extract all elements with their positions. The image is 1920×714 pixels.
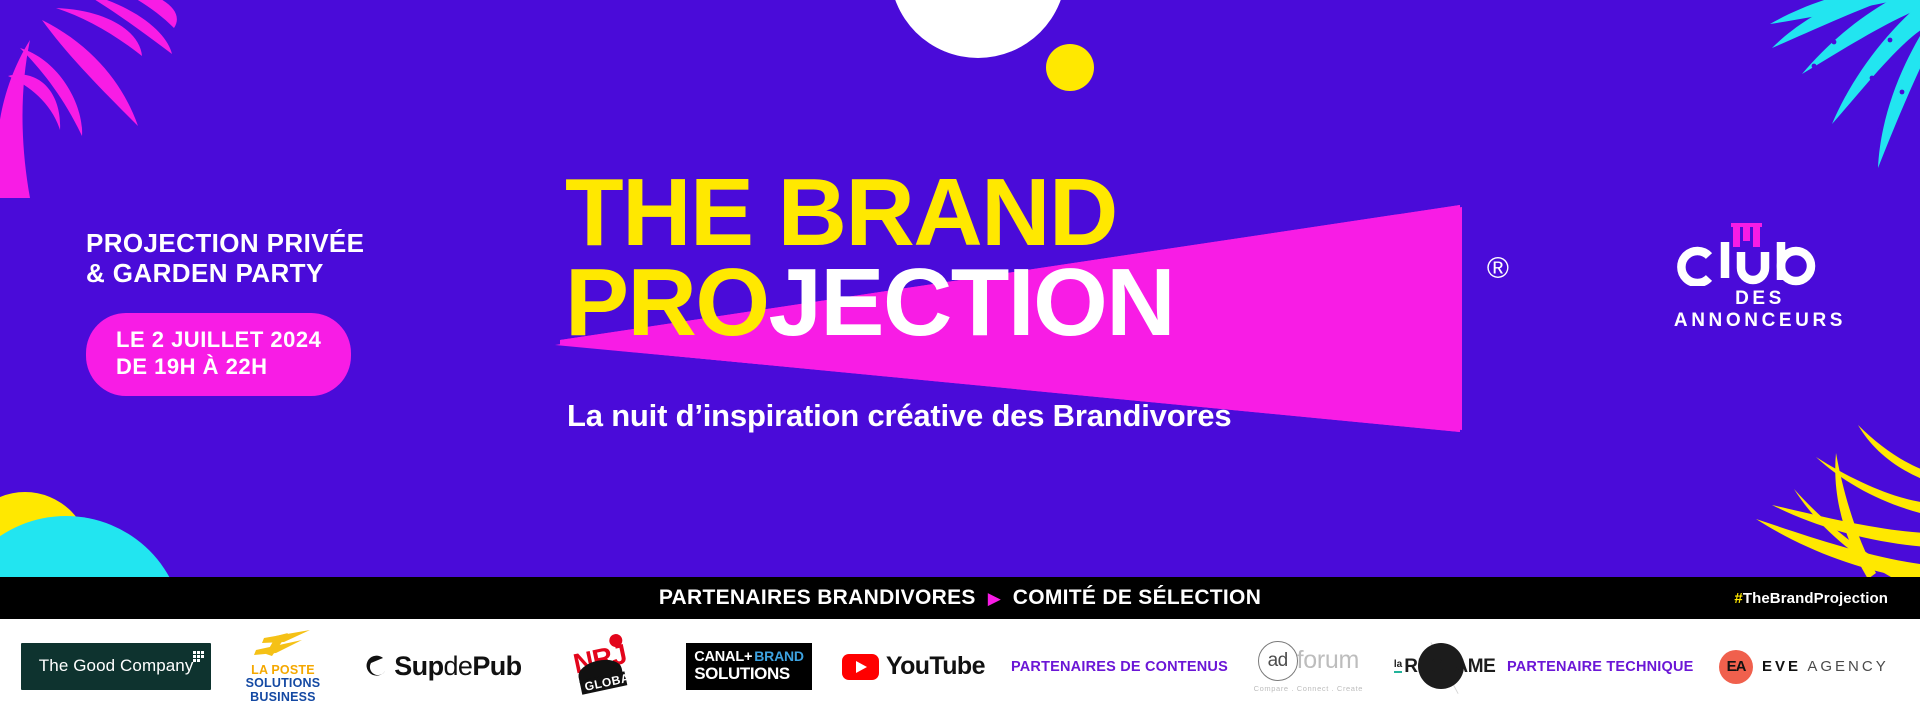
comite-selection-label: COMITÉ DE SÉLECTION	[1013, 586, 1261, 610]
label-partenaire-technique: PARTENAIRE TECHNIQUE	[1495, 659, 1706, 675]
eve-agency-lockup: EA EVE AGENCY	[1719, 650, 1889, 684]
title-jection: JECTION	[769, 249, 1175, 356]
adforum-lockup: ad forum Compare . Connect . Create	[1254, 641, 1363, 693]
leaf-decoration-magenta	[0, 0, 240, 199]
partner-logo-la-reclame[interactable]: la RÉCLAME	[1377, 645, 1495, 689]
the-good-company-badge: The Good Company	[21, 643, 212, 690]
partner-logo-canal-brand-solutions[interactable]: CANAL+BRAND SOLUTIONS	[671, 643, 828, 691]
circle-decoration-white	[890, 0, 1066, 58]
partners-brandivores-label: PARTENAIRES BRANDIVORES	[659, 586, 976, 610]
la-poste-bird-icon	[254, 630, 312, 660]
arrow-right-icon: ▶	[988, 590, 1001, 607]
title-line-2: PROJECTION	[565, 258, 1475, 348]
leaf-decoration-yellow	[1660, 383, 1920, 577]
circle-decoration-cyan	[0, 516, 184, 577]
la-poste-line-1: LA POSTE	[251, 664, 315, 677]
club-wordmark	[1655, 222, 1865, 286]
youtube-lockup: YouTube	[842, 652, 985, 681]
partner-logo-nrj-global[interactable]: NRJ GLOBAL	[533, 632, 670, 702]
la-poste-line-3: BUSINESS	[250, 691, 316, 704]
tagline: La nuit d’inspiration créative des Brand…	[567, 398, 1231, 434]
supdepub-swirl-icon	[363, 654, 389, 680]
partner-logos-strip: The Good Company LA PO	[0, 619, 1920, 714]
la-reclame-lockup: la RÉCLAME	[1394, 645, 1478, 689]
supdepub-lockup: SupdePub	[363, 651, 521, 682]
dot-decoration-yellow	[1046, 44, 1094, 91]
hashtag-text: TheBrandProjection	[1743, 590, 1888, 607]
la-reclame-la: la	[1394, 660, 1402, 673]
circle-decoration-yellow	[0, 492, 90, 577]
partner-logos-row: The Good Company LA PO	[0, 630, 1920, 704]
partner-logo-eve-agency[interactable]: EA EVE AGENCY	[1706, 650, 1902, 684]
club-des-annonceurs-logo: DES ANNONCEURS	[1655, 222, 1865, 332]
partner-logo-the-good-company[interactable]: The Good Company	[18, 643, 214, 690]
la-poste-lockup: LA POSTE SOLUTIONS BUSINESS	[246, 630, 321, 704]
event-info-block: PROJECTION PRIVÉE & GARDEN PARTY LE 2 JU…	[86, 228, 506, 396]
leaf-decoration-cyan	[1666, 0, 1920, 192]
event-kicker-line-1: PROJECTION PRIVÉE	[86, 228, 506, 258]
partner-logo-adforum[interactable]: ad forum Compare . Connect . Create	[1240, 641, 1377, 693]
adforum-tagline: Compare . Connect . Create	[1254, 684, 1363, 693]
event-time: DE 19H À 22H	[116, 354, 321, 381]
solutions-label: SOLUTIONS	[694, 665, 804, 683]
grid-mark-icon	[193, 651, 204, 663]
partenaires-contenus-text: PARTENAIRES DE CONTENUS	[1011, 659, 1228, 675]
promo-banner: PROJECTION PRIVÉE & GARDEN PARTY LE 2 JU…	[0, 0, 1920, 714]
supdepub-label: SupdePub	[394, 651, 521, 682]
partner-logo-youtube[interactable]: YouTube	[828, 652, 1000, 681]
partner-logo-supdepub[interactable]: SupdePub	[352, 651, 534, 682]
la-poste-line-2: SOLUTIONS	[246, 677, 321, 690]
label-partenaires-de-contenus: PARTENAIRES DE CONTENUS	[999, 659, 1239, 675]
partner-logo-la-poste[interactable]: LA POSTE SOLUTIONS BUSINESS	[214, 630, 351, 704]
eve-agency-badge-icon: EA	[1719, 650, 1753, 684]
canal-label: CANAL+	[694, 649, 752, 665]
partners-header-center: PARTENAIRES BRANDIVORES ▶ COMITÉ DE SÉLE…	[0, 577, 1920, 619]
partners-header-bar: PARTENAIRES BRANDIVORES ▶ COMITÉ DE SÉLE…	[0, 577, 1920, 619]
event-kicker-line-2: & GARDEN PARTY	[86, 258, 506, 288]
hero-section: PROJECTION PRIVÉE & GARDEN PARTY LE 2 JU…	[0, 0, 1920, 577]
canal-brand-solutions-badge: CANAL+BRAND SOLUTIONS	[686, 643, 812, 691]
club-subtitle: DES ANNONCEURS	[1655, 288, 1865, 332]
eve-agency-label: EVE AGENCY	[1762, 658, 1889, 675]
adforum-forum-text: forum	[1297, 646, 1359, 675]
registered-trademark-icon: ®	[1487, 252, 1509, 286]
nrj-global-icon: NRJ GLOBAL	[567, 632, 637, 702]
event-date-pill: LE 2 JUILLET 2024 DE 19H À 22H	[86, 313, 351, 397]
canal-row-1: CANAL+BRAND	[694, 649, 804, 666]
main-title: THE BRAND PROJECTION ®	[565, 168, 1475, 348]
event-hashtag: #TheBrandProjection	[1734, 577, 1888, 619]
event-date: LE 2 JUILLET 2024	[116, 327, 321, 354]
la-reclame-main: RÉCLAME	[1404, 656, 1495, 678]
partenaire-technique-text: PARTENAIRE TECHNIQUE	[1507, 659, 1694, 675]
hash-icon: #	[1734, 590, 1742, 607]
club-logo-icon	[1655, 222, 1865, 286]
youtube-label: YouTube	[886, 652, 985, 681]
title-o: O	[695, 249, 768, 356]
youtube-play-icon	[842, 654, 879, 680]
title-line-1: THE BRAND	[565, 168, 1475, 258]
adforum-wordmark: ad forum	[1258, 641, 1359, 681]
the-good-company-label: The Good Company	[39, 656, 194, 675]
title-pr: PR	[565, 249, 695, 356]
adforum-ad-circle: ad	[1258, 641, 1298, 681]
brand-label: BRAND	[754, 648, 804, 664]
